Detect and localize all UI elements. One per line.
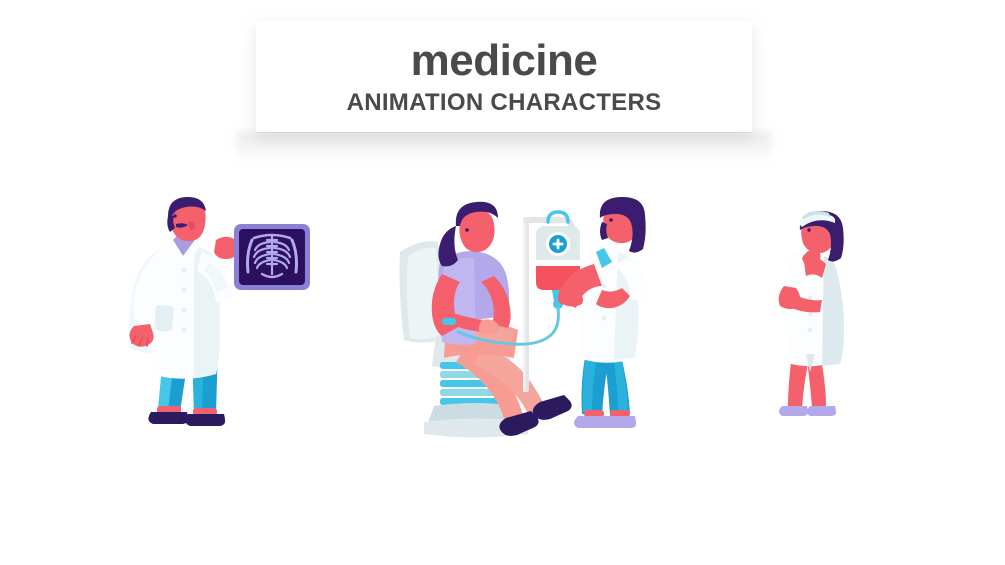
doctor-lab-coat — [129, 236, 234, 379]
doctor-xray-illustration — [118, 196, 328, 446]
doctor-shoes — [148, 412, 225, 426]
xray-film — [234, 224, 310, 290]
page-title: medicine — [411, 39, 598, 83]
scene-patient-iv-drip — [398, 196, 668, 441]
scene-doctor-with-xray — [118, 196, 328, 446]
title-card-shadow — [236, 132, 772, 162]
nurse-illustration — [758, 206, 878, 431]
title-card: medicine ANIMATION CHARACTERS — [256, 21, 752, 132]
iv-drip-illustration — [398, 196, 668, 441]
scene-nurse-standing — [758, 206, 878, 431]
illustration-canvas: medicine ANIMATION CHARACTERS — [0, 0, 1005, 565]
doctor-head — [167, 197, 206, 241]
nurse-shoes — [779, 406, 836, 416]
page-subtitle: ANIMATION CHARACTERS — [347, 91, 662, 115]
